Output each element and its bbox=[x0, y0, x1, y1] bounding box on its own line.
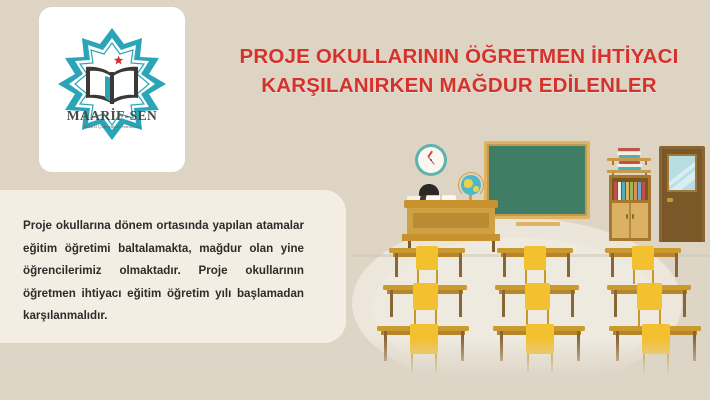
page-title: PROJE OKULLARININ ÖĞRETMEN İHTİYACI KARŞ… bbox=[213, 42, 705, 100]
maarif-sen-logo-icon: MAARİF-SEN Maarif Çalışanları Sendikası bbox=[50, 24, 174, 148]
floor-highlight-oval-inner bbox=[372, 238, 662, 378]
statement-paragraph: Proje okullarına dönem ortasında yapılan… bbox=[23, 215, 304, 328]
logo-card: MAARİF-SEN Maarif Çalışanları Sendikası bbox=[39, 7, 185, 172]
logo-wordmark: MAARİF-SEN bbox=[67, 108, 157, 123]
logo-subtitle: Maarif Çalışanları Sendikası bbox=[84, 124, 141, 129]
poster-canvas: MAARİF-SEN Maarif Çalışanları Sendikası … bbox=[0, 0, 710, 400]
statement-panel: Proje okullarına dönem ortasında yapılan… bbox=[0, 190, 346, 343]
wall-floor-baseline bbox=[352, 254, 710, 257]
logo-svg: MAARİF-SEN Maarif Çalışanları Sendikası bbox=[50, 24, 174, 148]
page-title-line-2: KARŞILANIRKEN MAĞDUR EDİLENLER bbox=[213, 71, 705, 100]
page-title-line-1: PROJE OKULLARININ ÖĞRETMEN İHTİYACI bbox=[239, 45, 678, 68]
